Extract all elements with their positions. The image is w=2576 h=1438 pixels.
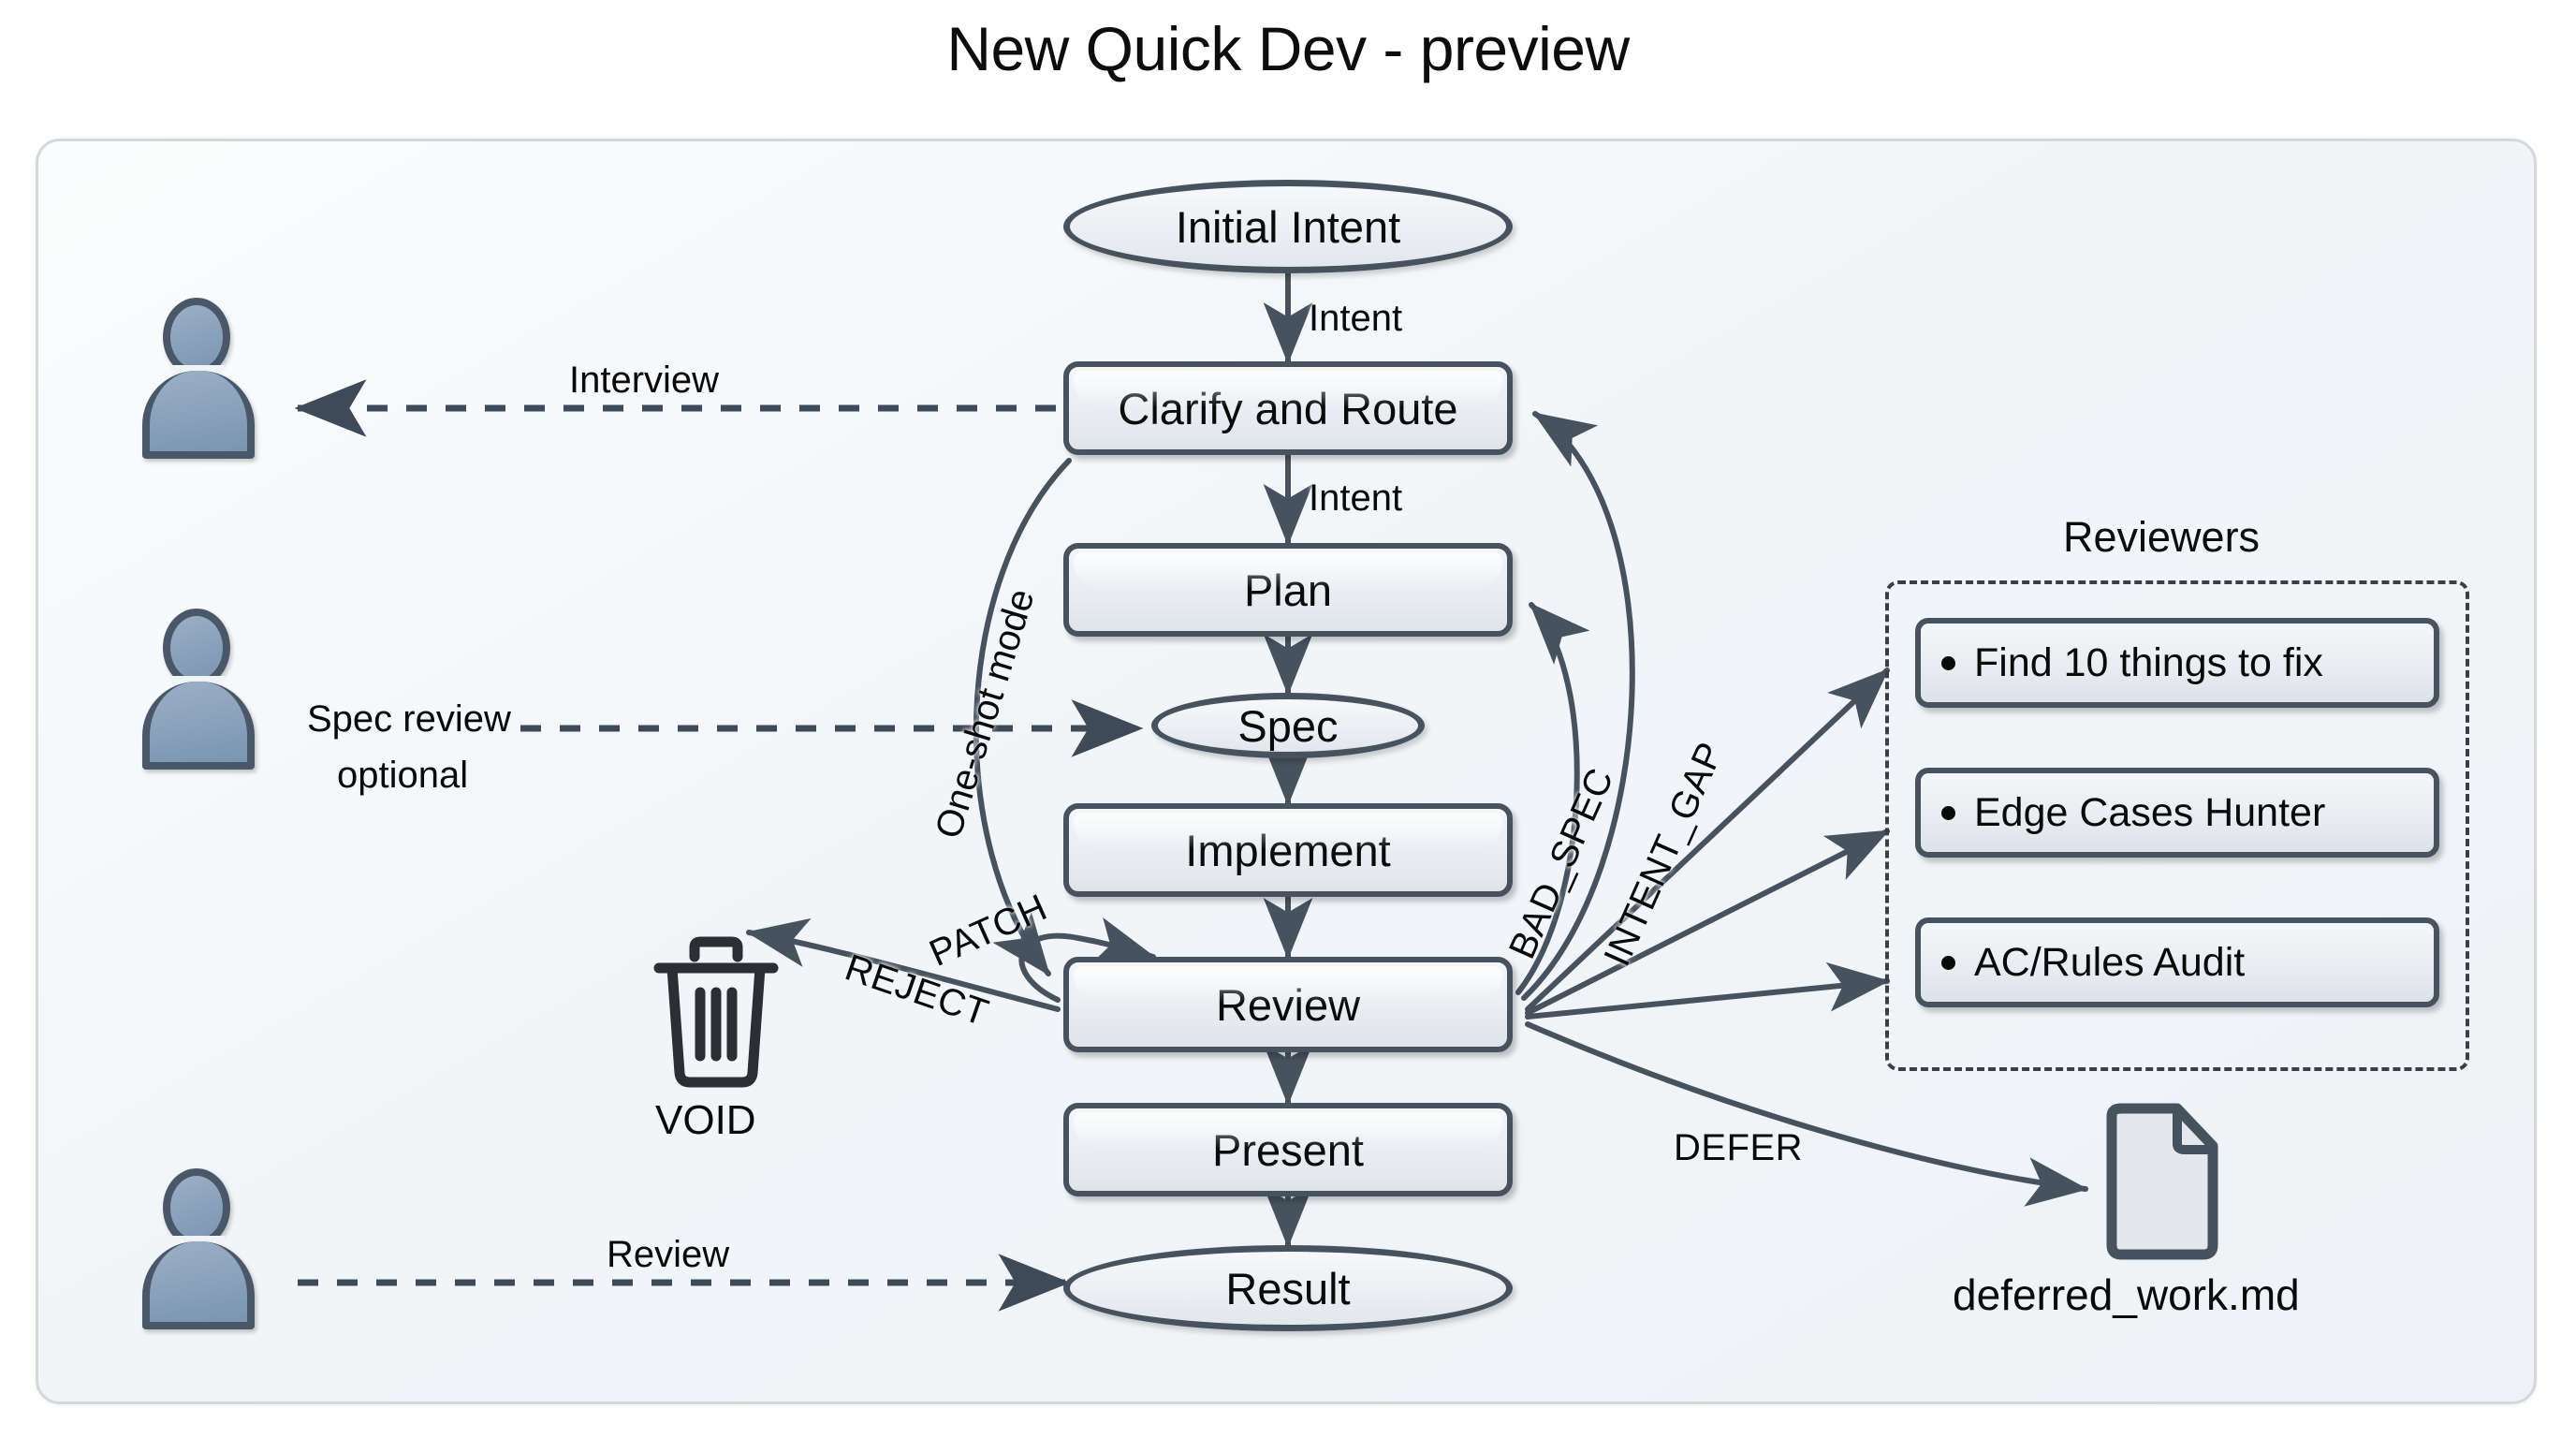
actor-final-review[interactable] — [142, 1168, 255, 1329]
reviewer-label: Find 10 things to fix — [1974, 640, 2323, 686]
node-label: Initial Intent — [1176, 201, 1400, 253]
edge-label-intent-top: Intent — [1309, 298, 1402, 340]
void-label: VOID — [655, 1097, 756, 1144]
person-body-icon — [142, 371, 255, 459]
node-label: Clarify and Route — [1118, 383, 1457, 434]
edge-label-interview: Interview — [569, 359, 719, 402]
node-initial-intent[interactable]: Initial Intent — [1063, 180, 1513, 273]
diagram-canvas: New Quick Dev - preview — [0, 0, 2576, 1438]
node-clarify-and-route[interactable]: Clarify and Route — [1063, 361, 1513, 455]
document-label: deferred_work.md — [1953, 1269, 2300, 1320]
actor-spec-review[interactable] — [142, 609, 255, 770]
node-review[interactable]: Review — [1063, 957, 1513, 1052]
node-implement[interactable]: Implement — [1063, 803, 1513, 897]
node-label: Plan — [1244, 565, 1332, 616]
reviewer-item-edge-cases-hunter[interactable]: Edge Cases Hunter — [1915, 768, 2439, 858]
reviewers-title: Reviewers — [2063, 513, 2260, 562]
node-label: Present — [1212, 1124, 1364, 1176]
bullet-icon — [1941, 656, 1955, 670]
reviewer-label: AC/Rules Audit — [1974, 940, 2245, 986]
reviewer-item-find-10-things-to-fix[interactable]: Find 10 things to fix — [1915, 618, 2439, 708]
edge-label-spec-review-line2: optional — [337, 755, 468, 797]
edge-label-review-actor: Review — [607, 1234, 729, 1276]
page-title: New Quick Dev - preview — [0, 13, 2576, 84]
bullet-icon — [1941, 956, 1955, 970]
bullet-icon — [1941, 806, 1955, 820]
trash-icon[interactable] — [646, 936, 786, 1096]
node-label: Result — [1225, 1263, 1350, 1314]
node-label: Review — [1216, 979, 1360, 1031]
node-label: Spec — [1237, 700, 1338, 752]
reviewer-label: Edge Cases Hunter — [1974, 790, 2325, 836]
actor-interview[interactable] — [142, 298, 255, 459]
reviewer-item-ac-rules-audit[interactable]: AC/Rules Audit — [1915, 917, 2439, 1007]
node-plan[interactable]: Plan — [1063, 543, 1513, 637]
node-present[interactable]: Present — [1063, 1103, 1513, 1196]
edge-label-defer: DEFER — [1674, 1127, 1803, 1169]
file-icon[interactable] — [2104, 1103, 2220, 1265]
node-label: Implement — [1185, 825, 1390, 876]
edge-label-spec-review-line1: Spec review — [307, 698, 511, 741]
person-body-icon — [142, 682, 255, 770]
person-body-icon — [142, 1241, 255, 1329]
node-result[interactable]: Result — [1063, 1245, 1513, 1331]
node-spec[interactable]: Spec — [1151, 693, 1425, 758]
edge-label-intent-mid: Intent — [1309, 477, 1402, 520]
